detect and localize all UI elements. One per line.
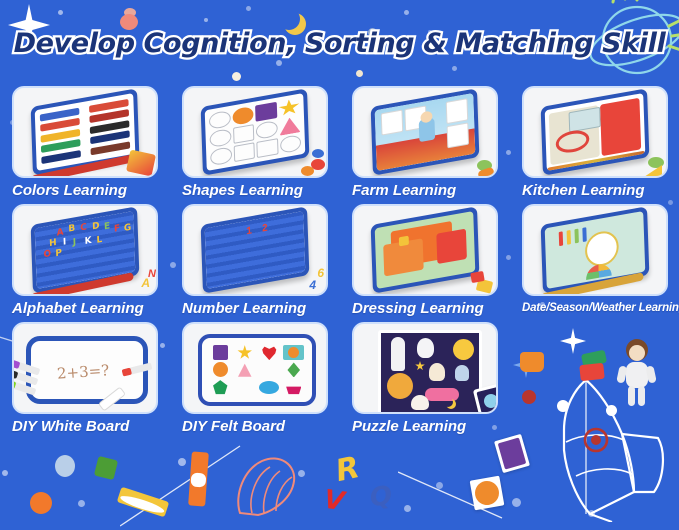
- felt-shape-semicircle: [286, 380, 301, 395]
- crayon-yellow-icon: [117, 487, 169, 518]
- letter-tile: L: [96, 235, 102, 246]
- page-title: Develop Cognition, Sorting & Matching Sk…: [0, 20, 679, 66]
- puzzle-star-icon: [415, 361, 425, 371]
- feature-cell-diy-felt-board[interactable]: DIY Felt Board: [182, 322, 328, 435]
- farm-board-art: [371, 88, 480, 175]
- board-face: [375, 93, 476, 171]
- season-bar: [567, 230, 571, 245]
- bg-dot: [78, 500, 85, 507]
- loose-pieces: [311, 159, 325, 170]
- felt-shape-diamond: [286, 362, 301, 377]
- feature-card-date-season-weather-learning[interactable]: [522, 204, 668, 296]
- alphabet-board-art: A B C D E F G H I J K L O: [31, 206, 140, 293]
- feature-card-alphabet-learning[interactable]: A B C D E F G H I J K L O: [12, 204, 158, 296]
- letter-tile: E: [104, 221, 110, 232]
- bg-dot: [404, 505, 411, 512]
- shape-outline: [210, 146, 232, 166]
- feature-cell-kitchen-learning[interactable]: Kitchen Learning: [522, 86, 668, 199]
- feature-row: 2+3=? DIY White Board: [0, 322, 679, 435]
- bg-square: [94, 456, 118, 480]
- feature-cell-date-season-weather-learning[interactable]: Date/Season/Weather Learning: [522, 204, 668, 317]
- letter-tile: O: [43, 249, 51, 260]
- loose-pieces: [476, 278, 493, 293]
- shape-outline: [209, 110, 231, 130]
- feature-cell-diy-white-board[interactable]: 2+3=? DIY White Board: [12, 322, 158, 435]
- bg-dot: [58, 10, 63, 15]
- shape-outline: [233, 142, 255, 162]
- feature-cell-shapes-learning[interactable]: Shapes Learning: [182, 86, 328, 199]
- letter-tile: D: [92, 221, 100, 232]
- loose-letters: A: [141, 276, 150, 290]
- bg-dot: [246, 6, 251, 11]
- loose-numbers: 6: [317, 266, 324, 280]
- kitchen-board-art: [541, 88, 650, 175]
- loose-pieces: [477, 167, 495, 178]
- letter-r-icon: R: [333, 450, 363, 489]
- bg-dot: [30, 492, 52, 514]
- farm-slot: [446, 98, 468, 124]
- season-bar: [582, 227, 586, 242]
- whiteboard-equation: 2+3=?: [56, 361, 109, 383]
- feature-label: Kitchen Learning: [522, 182, 668, 199]
- bg-dot: [55, 455, 75, 477]
- kitchen-fridge: [600, 97, 641, 156]
- feature-card-dressing-learning[interactable]: [352, 204, 498, 296]
- puzzle-alien-icon: [455, 365, 469, 381]
- feature-card-number-learning[interactable]: 1 2 6 4: [182, 204, 328, 296]
- puzzle-art: [378, 330, 482, 414]
- puzzle-ghost-icon: [411, 395, 429, 410]
- feature-cell-alphabet-learning[interactable]: A B C D E F G H I J K L O: [12, 204, 158, 317]
- loose-letters: N: [148, 268, 156, 280]
- loose-pieces: [301, 166, 314, 176]
- felt-shape-square: [213, 345, 228, 360]
- letter-tile: P: [55, 248, 62, 259]
- dress-flap: [383, 238, 423, 276]
- letter-tile: F: [114, 223, 120, 234]
- number-tile: 1: [246, 225, 252, 237]
- felt-shape-star: [237, 345, 252, 360]
- feature-label: Shapes Learning: [182, 182, 328, 199]
- bg-dot: [452, 66, 457, 71]
- letter-tile: I: [63, 237, 67, 248]
- board-face: [545, 93, 646, 171]
- feature-label: Date/Season/Weather Learning: [522, 300, 668, 317]
- puzzle-spaceship-icon: [425, 388, 459, 401]
- board-face: [375, 211, 476, 289]
- loose-pieces: [312, 149, 324, 158]
- puzzle-planet-icon: [387, 373, 413, 399]
- feature-row: A B C D E F G H I J K L O: [0, 204, 679, 317]
- page-title-text: Develop Cognition, Sorting & Matching Sk…: [14, 28, 666, 59]
- bg-dot: [2, 470, 8, 476]
- crayon-orange-icon: [188, 451, 209, 506]
- feature-cell-number-learning[interactable]: 1 2 6 4 Number Learning: [182, 204, 328, 317]
- bg-dot: [178, 458, 186, 466]
- puzzle-rocket-icon: [391, 337, 405, 371]
- feature-label: Colors Learning: [12, 182, 158, 199]
- bg-dot: [232, 72, 241, 81]
- letter-tile: C: [80, 222, 87, 233]
- crayon-rows: [40, 99, 130, 165]
- picture-card-orange: [470, 476, 505, 511]
- feature-label: Dressing Learning: [352, 300, 498, 317]
- shape-outline: [209, 128, 231, 148]
- weather-clock-dial: [585, 229, 620, 269]
- feature-card-kitchen-learning[interactable]: [522, 86, 668, 178]
- crayon-band: [119, 493, 166, 516]
- product-feature-grid: Colors Learning: [0, 86, 679, 435]
- bg-dot: [298, 470, 305, 477]
- shape-filled-circle: [232, 106, 254, 126]
- feature-cell-farm-learning[interactable]: Farm Learning: [352, 86, 498, 199]
- number-board-art: 1 2: [201, 206, 310, 293]
- shape-outline: [233, 124, 255, 144]
- feature-cell-dressing-learning[interactable]: Dressing Learning: [352, 204, 498, 317]
- feature-label: Farm Learning: [352, 182, 498, 199]
- loose-pieces: [648, 157, 664, 168]
- season-bar: [559, 231, 563, 246]
- bg-dot: [436, 482, 443, 489]
- letter-tile: K: [85, 235, 92, 246]
- feature-card-diy-white-board[interactable]: 2+3=?: [12, 322, 158, 414]
- feature-card-puzzle-learning[interactable]: [352, 322, 498, 414]
- letter-tile: B: [68, 224, 75, 235]
- feature-card-shapes-learning[interactable]: [182, 86, 328, 178]
- number-tile: 2: [262, 222, 268, 234]
- feature-row: Colors Learning: [0, 86, 679, 199]
- bg-dot: [512, 498, 521, 507]
- feature-cell-colors-learning[interactable]: Colors Learning: [12, 86, 158, 199]
- puzzle-sun-icon: [453, 339, 474, 360]
- dress-flap: [436, 228, 467, 263]
- board-face: 1 2: [205, 211, 306, 289]
- felt-shape-grid: [209, 345, 305, 395]
- felt-shape-pentagon: [213, 380, 228, 395]
- shape-filled-square: [255, 102, 277, 122]
- farm-children: [419, 117, 436, 142]
- loose-pieces: [477, 160, 492, 171]
- feature-card-farm-learning[interactable]: [352, 86, 498, 178]
- seashell-icon: [232, 455, 302, 517]
- feature-card-diy-felt-board[interactable]: [182, 322, 328, 414]
- feature-label: DIY White Board: [12, 418, 158, 435]
- picture-card-eggplant: [494, 434, 530, 473]
- shape-filled-star: [278, 98, 300, 118]
- letter-tile: H: [49, 238, 57, 249]
- shape-outline: [256, 138, 278, 158]
- shape-outline-grid: [209, 98, 301, 166]
- puzzle-child-icon: [429, 363, 445, 381]
- season-wheel: [586, 262, 612, 280]
- felt-shape-card-circle: [283, 345, 304, 360]
- feature-cell-puzzle-learning[interactable]: Puzzle Learning: [352, 322, 498, 435]
- loose-numbers: 4: [309, 278, 316, 292]
- board-face: [205, 93, 306, 171]
- infographic-canvas: Develop Cognition, Sorting & Matching Sk…: [0, 0, 679, 530]
- shooting-star-line: [398, 464, 528, 524]
- feature-label: DIY Felt Board: [182, 418, 328, 435]
- felt-shape-triangle: [237, 362, 252, 377]
- felt-shape-heart: [262, 345, 277, 360]
- bg-dot: [404, 10, 409, 15]
- feltboard-art: [198, 334, 316, 406]
- letter-q-icon: Q: [368, 481, 393, 513]
- letter-tile: J: [73, 237, 77, 248]
- feature-card-colors-learning[interactable]: [12, 86, 158, 178]
- bg-dot: [356, 70, 363, 77]
- season-bar: [574, 229, 578, 244]
- shape-outline: [279, 134, 301, 154]
- puzzle-moon-icon: [443, 397, 453, 407]
- colors-board-art: [31, 88, 140, 175]
- dressing-board-art: [371, 206, 480, 293]
- letter-v-icon: V: [322, 485, 346, 518]
- feature-label: Puzzle Learning: [352, 418, 498, 435]
- shape-outline: [256, 120, 278, 140]
- letter-tile: G: [124, 222, 132, 233]
- shapes-board-art: [201, 88, 310, 175]
- loose-pieces: [644, 165, 662, 177]
- bg-dot: [124, 8, 136, 17]
- dateseason-board-art: [541, 206, 650, 293]
- felt-shape-circle: [213, 362, 228, 377]
- bg-dot: [588, 510, 595, 517]
- farm-slot: [381, 109, 403, 135]
- board-ribs: [205, 211, 306, 289]
- farm-slot: [447, 122, 469, 148]
- feature-label: Alphabet Learning: [12, 300, 158, 317]
- felt-shape-ellipse: [259, 381, 279, 394]
- letter-tile: A: [56, 227, 63, 238]
- puzzle-astronaut-icon: [417, 338, 434, 358]
- feature-label: Number Learning: [182, 300, 328, 317]
- crayon-band: [190, 472, 206, 487]
- shape-filled-triangle: [279, 116, 301, 136]
